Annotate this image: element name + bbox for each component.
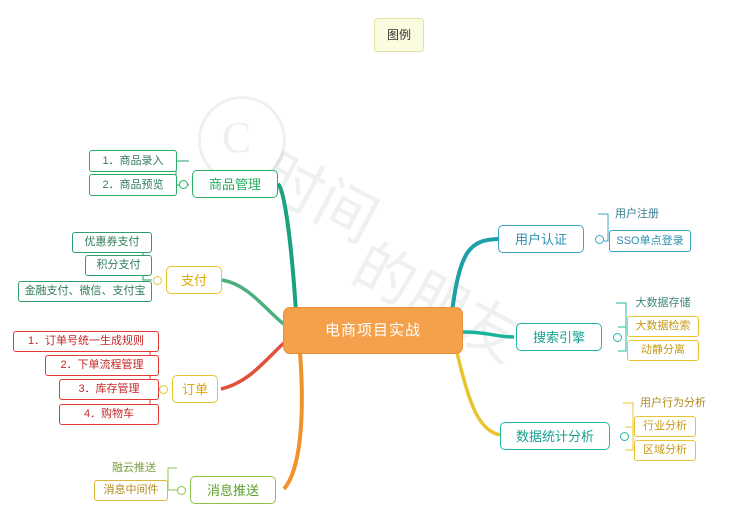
node-shopping-cart[interactable]: 4．购物车: [59, 404, 159, 425]
node-user-auth[interactable]: 用户认证: [498, 225, 584, 253]
node-inventory-management[interactable]: 3．库存管理: [59, 379, 159, 400]
node-finance-payment[interactable]: 金融支付、微信、支付宝: [18, 281, 152, 302]
node-points-payment[interactable]: 积分支付: [85, 255, 152, 276]
mindmap-canvas: C 时间 的朋友: [0, 0, 732, 524]
node-data-statistics[interactable]: 数据统计分析: [500, 422, 610, 450]
node-payment[interactable]: 支付: [166, 266, 222, 294]
node-message-middleware[interactable]: 消息中间件: [94, 480, 168, 501]
collapse-toggle-product-management[interactable]: [179, 180, 188, 189]
node-user-behavior-analysis[interactable]: 用户行为分析: [634, 394, 712, 413]
node-order-number-rule[interactable]: 1．订单号统一生成规则: [13, 331, 159, 352]
node-user-register[interactable]: 用户注册: [609, 205, 665, 224]
node-order[interactable]: 订单: [172, 375, 218, 403]
node-industry-analysis[interactable]: 行业分析: [634, 416, 696, 437]
collapse-toggle-message-push[interactable]: [177, 486, 186, 495]
node-bigdata-search[interactable]: 大数据检索: [627, 316, 699, 337]
node-product-management[interactable]: 商品管理: [192, 170, 278, 198]
node-message-push[interactable]: 消息推送: [190, 476, 276, 504]
node-rongyun-push[interactable]: 融云推送: [100, 459, 168, 478]
collapse-toggle-payment[interactable]: [153, 276, 162, 285]
collapse-toggle-order[interactable]: [159, 385, 168, 394]
node-region-analysis[interactable]: 区域分析: [634, 440, 696, 461]
node-product-entry[interactable]: 1．商品录入: [89, 150, 177, 172]
node-static-dynamic-split[interactable]: 动静分离: [627, 340, 699, 361]
node-sso-login[interactable]: SSO单点登录: [609, 230, 691, 252]
collapse-toggle-user-auth[interactable]: [595, 235, 604, 244]
node-search-engine[interactable]: 搜索引擎: [516, 323, 602, 351]
collapse-toggle-search-engine[interactable]: [613, 333, 622, 342]
node-order-process[interactable]: 2．下单流程管理: [45, 355, 159, 376]
node-product-preview[interactable]: 2．商品预览: [89, 174, 177, 196]
node-coupon-payment[interactable]: 优惠券支付: [72, 232, 152, 253]
collapse-toggle-data-statistics[interactable]: [620, 432, 629, 441]
legend-box[interactable]: 图例: [374, 18, 424, 52]
node-bigdata-storage[interactable]: 大数据存储: [627, 294, 699, 313]
root-node[interactable]: 电商项目实战: [283, 307, 463, 354]
